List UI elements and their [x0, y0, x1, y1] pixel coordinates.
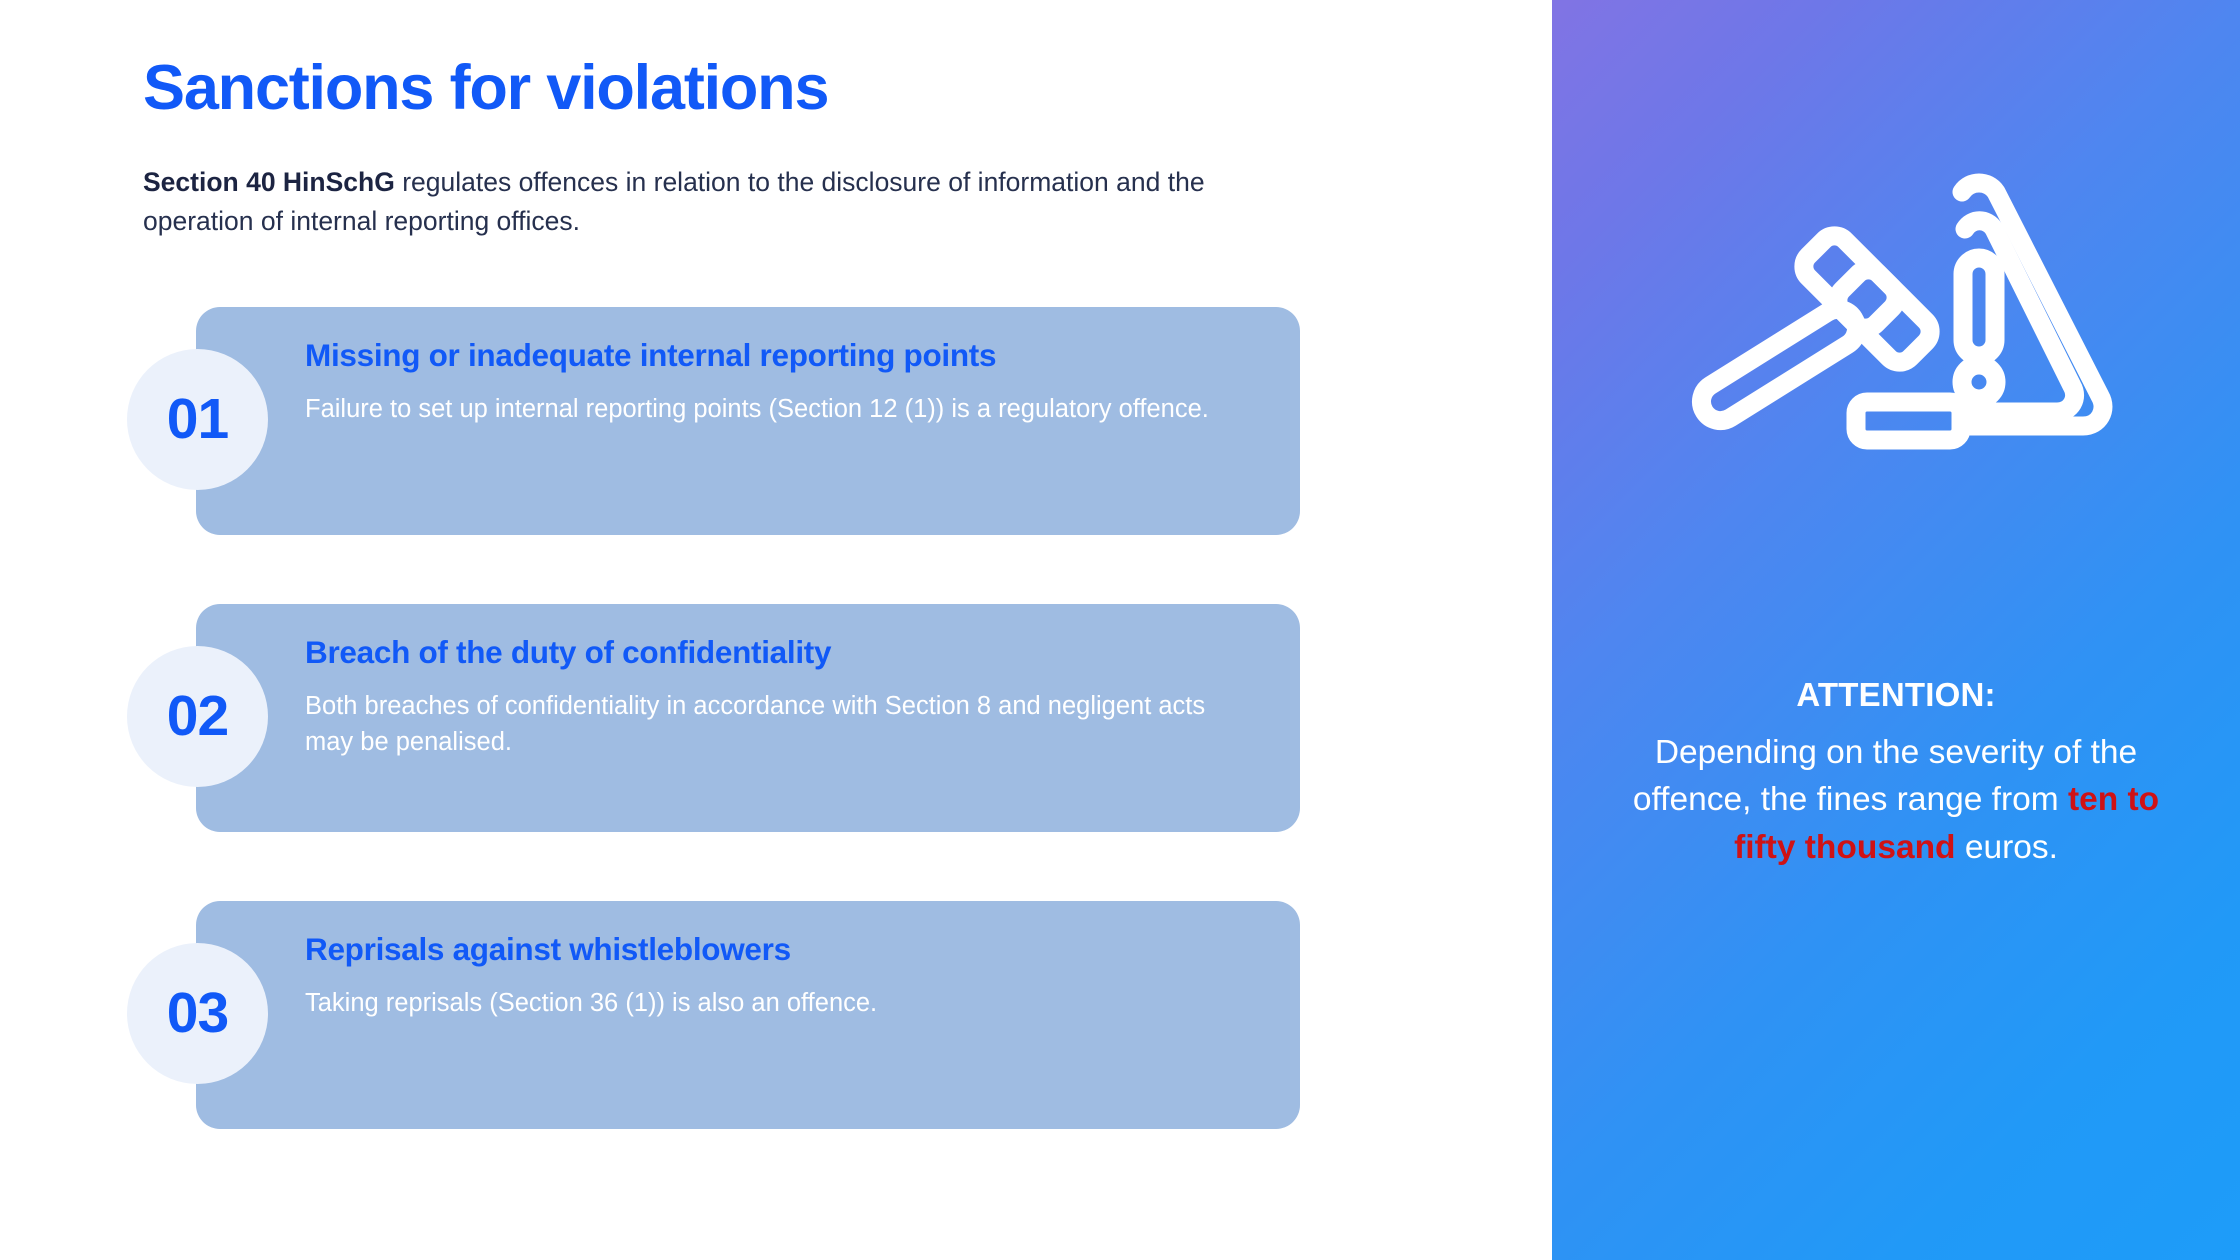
intro-paragraph: Section 40 HinSchG regulates offences in… — [143, 163, 1303, 240]
card-title-03: Reprisals against whistleblowers — [305, 931, 1254, 967]
card-text-03: Taking reprisals (Section 36 (1)) is als… — [305, 985, 1210, 1021]
card-panel-01: Missing or inadequate internal reporting… — [196, 307, 1300, 535]
card-title-01: Missing or inadequate internal reporting… — [305, 337, 1254, 373]
card-panel-02: Breach of the duty of confidentiality Bo… — [196, 604, 1300, 832]
card-number-02: 02 — [167, 688, 228, 745]
gavel-warning-triangle-icon — [1676, 150, 2116, 480]
list-item[interactable]: Breach of the duty of confidentiality Bo… — [0, 604, 1552, 832]
card-number-badge-02: 02 — [127, 646, 268, 787]
card-number-01: 01 — [167, 391, 228, 448]
attention-label: ATTENTION: — [1610, 672, 2182, 719]
attention-text-block: ATTENTION: Depending on the severity of … — [1552, 672, 2240, 872]
list-item[interactable]: Missing or inadequate internal reporting… — [0, 307, 1552, 535]
attention-text-after: euros. — [1956, 829, 2058, 866]
card-title-02: Breach of the duty of confidentiality — [305, 634, 1254, 670]
slide-root: Sanctions for violations Section 40 HinS… — [0, 0, 2240, 1260]
attention-text-before: Depending on the severity of the offence… — [1633, 734, 2137, 819]
attention-side-panel: ATTENTION: Depending on the severity of … — [1552, 0, 2240, 1260]
card-text-01: Failure to set up internal reporting poi… — [305, 391, 1210, 427]
card-number-badge-03: 03 — [127, 943, 268, 1084]
card-panel-03: Reprisals against whistleblowers Taking … — [196, 901, 1300, 1129]
sanctions-card-list: Missing or inadequate internal reporting… — [0, 307, 1552, 1129]
card-number-03: 03 — [167, 985, 228, 1042]
icon-container — [1552, 150, 2240, 480]
card-text-02: Both breaches of confidentiality in acco… — [305, 688, 1210, 760]
card-number-badge-01: 01 — [127, 349, 268, 490]
intro-bold-lead: Section 40 HinSchG — [143, 167, 395, 197]
attention-body: Depending on the severity of the offence… — [1610, 729, 2182, 872]
list-item[interactable]: Reprisals against whistleblowers Taking … — [0, 901, 1552, 1129]
page-title: Sanctions for violations — [143, 55, 1552, 121]
